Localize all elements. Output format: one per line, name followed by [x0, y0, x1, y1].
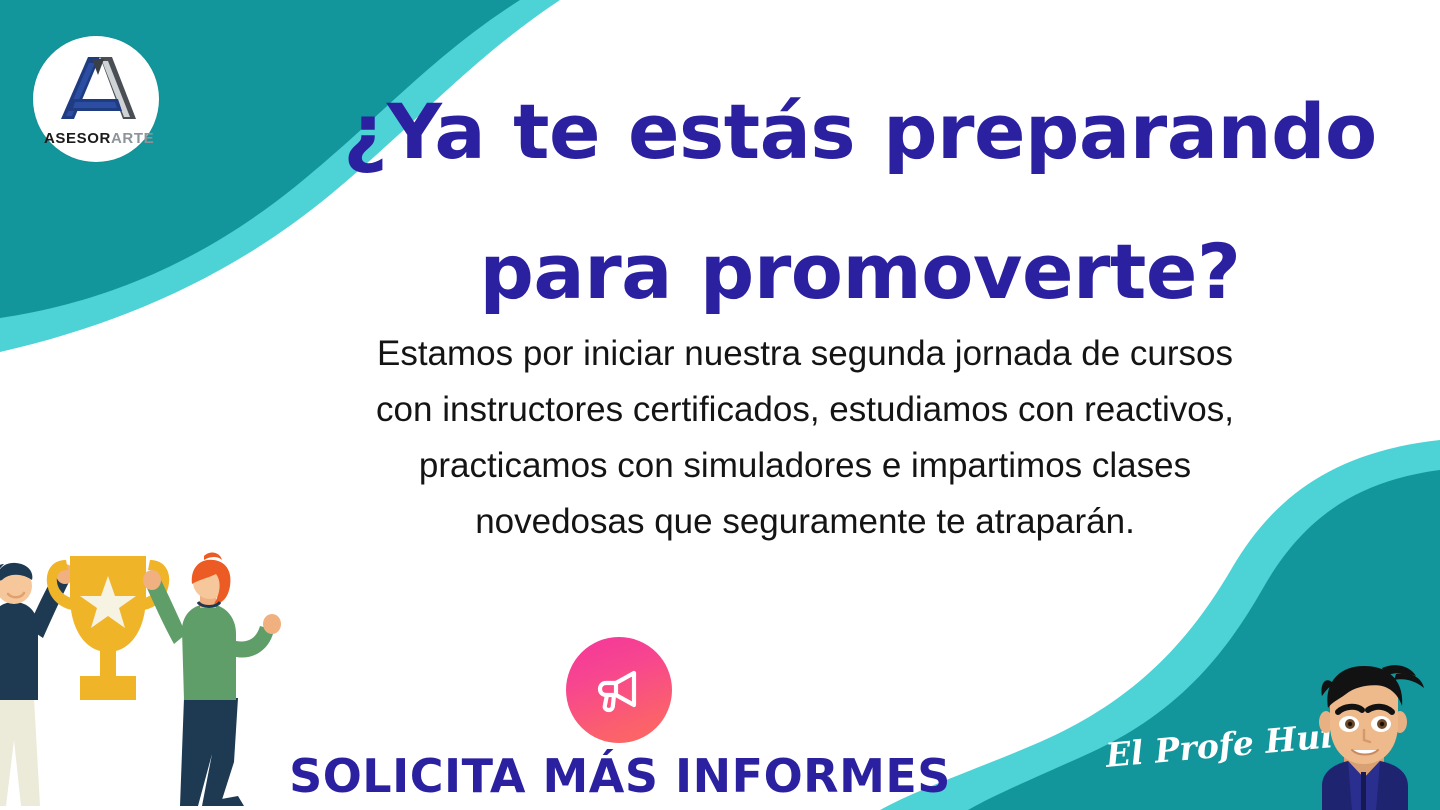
instructor-avatar — [1286, 660, 1440, 810]
headline-line-1: ¿Ya te estás preparando — [300, 62, 1420, 202]
cta-badge[interactable] — [566, 637, 672, 743]
logo-word-primary: ASESOR — [44, 130, 111, 147]
headline: ¿Ya te estás preparando para promoverte? — [300, 62, 1420, 342]
headline-line-2: para promoverte? — [300, 202, 1420, 342]
cta-label[interactable]: SOLICITA MÁS INFORMES — [180, 748, 1060, 804]
body-paragraph: Estamos por iniciar nuestra segunda jorn… — [250, 326, 1360, 550]
logo-word-secondary: ARTE — [111, 130, 154, 147]
poster-canvas: ASESORARTE ¿Ya te estás preparando para … — [0, 0, 1440, 810]
megaphone-icon — [590, 661, 648, 719]
logo-wordmark: ASESORARTE — [44, 131, 148, 146]
brand-logo: ASESORARTE — [33, 36, 159, 162]
logo-mark-wrap: ASESORARTE — [44, 47, 148, 151]
